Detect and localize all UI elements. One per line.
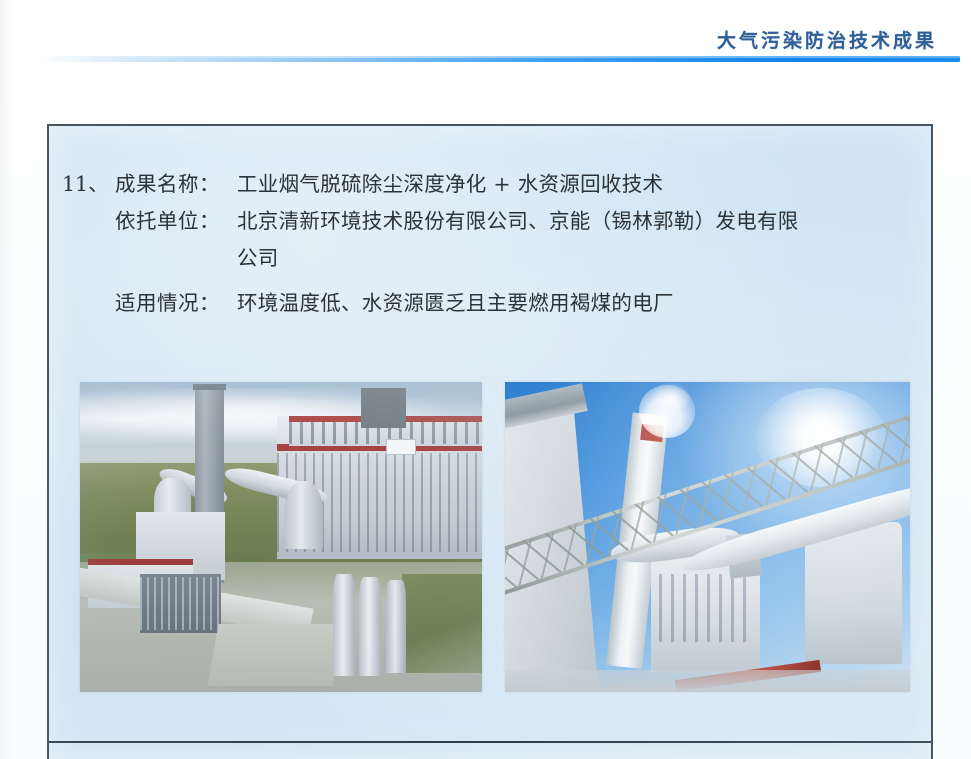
photo-row [80,382,912,694]
photo-haze-overlay [80,382,482,692]
entry-number: 11、 [62,166,115,203]
photo-haze-overlay [505,382,910,692]
entry-label-org: 依托单位： [115,203,237,240]
row-gap [62,277,915,285]
content-frame: 11、 成果名称： 工业烟气脱硫除尘深度净化 + 水资源回收技术 依托单位： 北… [47,124,933,759]
entry-row-application: 适用情况： 环境温度低、水资源匮乏且主要燃用褐煤的电厂 [62,285,915,322]
entry-value-org-continued: 公司 [237,240,915,277]
header-title: 大气污染防治技术成果 [717,26,937,53]
entry-text-block: 11、 成果名称： 工业烟气脱硫除尘深度净化 + 水资源回收技术 依托单位： 北… [62,166,915,322]
entry-value-name: 工业烟气脱硫除尘深度净化 + 水资源回收技术 [237,166,915,203]
frame-section-divider [49,741,931,743]
entry-value-org: 北京清新环境技术股份有限公司、京能（锡林郭勒）发电有限 [237,203,915,240]
page-left-edge-shadow [0,0,14,759]
entry-label-name: 成果名称： [115,166,237,203]
chimney-upward-photo [505,382,910,692]
power-plant-aerial-photo [80,382,482,692]
page-header: 大气污染防治技术成果 [0,0,971,70]
entry-value-application: 环境温度低、水资源匮乏且主要燃用褐煤的电厂 [237,285,915,322]
entry-label-application: 适用情况： [115,285,237,322]
entry-row-name: 11、 成果名称： 工业烟气脱硫除尘深度净化 + 水资源回收技术 [62,166,915,203]
entry-row-org: 依托单位： 北京清新环境技术股份有限公司、京能（锡林郭勒）发电有限 [62,203,915,240]
entry-row-org-continued: 公司 [62,240,915,277]
header-rule [40,56,960,62]
